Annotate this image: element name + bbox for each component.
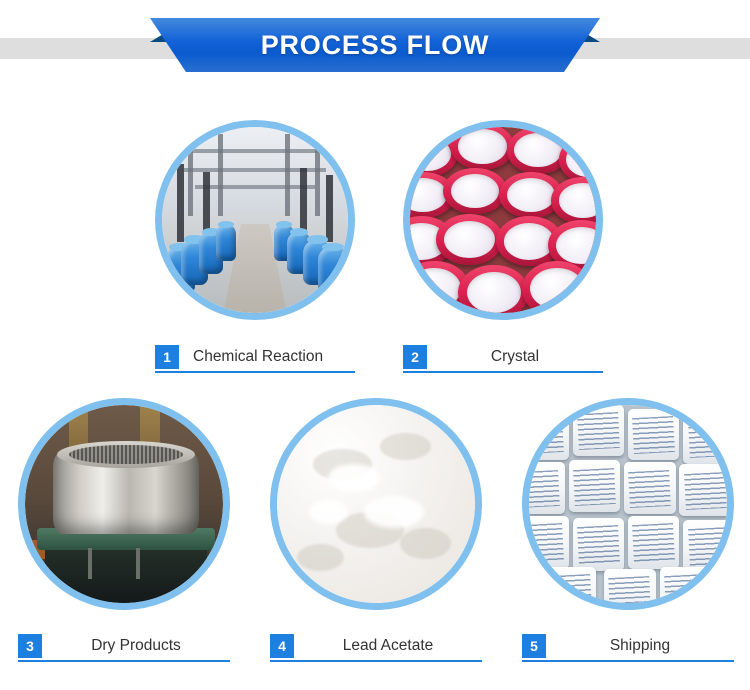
factory-pipe xyxy=(218,134,223,216)
step-4-circle-wrap xyxy=(270,398,482,610)
lead-acetate-photo xyxy=(270,398,482,610)
bag-print xyxy=(609,576,652,603)
crystal-bucket xyxy=(551,177,596,224)
centrifuge-illustration xyxy=(25,405,223,603)
step-2-label-row: 2 Crystal xyxy=(403,345,603,369)
chemical-reaction-photo xyxy=(155,120,355,320)
factory-pipe xyxy=(285,134,290,216)
step-4-number-badge: 4 xyxy=(270,634,294,658)
powder-highlight xyxy=(328,464,379,492)
bag-print xyxy=(664,574,707,603)
crystal-photo xyxy=(403,120,603,320)
crystal-bucket xyxy=(522,261,593,313)
product-bag xyxy=(683,413,727,464)
factory-column xyxy=(326,175,333,242)
step-5-circle-wrap xyxy=(522,398,734,610)
step-2-underline xyxy=(403,371,603,373)
step-card-4[interactable]: 4 Lead Acetate xyxy=(270,398,482,610)
product-bag xyxy=(624,462,675,513)
step-5-underline xyxy=(522,660,734,662)
bag-print xyxy=(684,472,727,510)
crystal-bucket xyxy=(443,168,506,215)
factory-illustration xyxy=(162,127,348,313)
bag-print xyxy=(632,523,675,563)
step-3-label-text: Dry Products xyxy=(42,637,230,655)
step-5-number-badge: 5 xyxy=(522,634,546,658)
product-bag xyxy=(545,567,596,603)
steps-row-2: 3 Dry Products xyxy=(0,388,750,663)
step-2-label: 2 Crystal xyxy=(403,345,603,373)
bag-print xyxy=(628,470,671,508)
powder-grain xyxy=(297,544,345,572)
step-4-label: 4 Lead Acetate xyxy=(270,634,482,662)
machine-leg xyxy=(136,548,140,580)
step-2-circle-wrap xyxy=(403,120,603,320)
bag-print xyxy=(529,470,560,508)
crystal-bucket xyxy=(410,131,458,178)
machine-base xyxy=(45,548,207,603)
powder-grain xyxy=(400,528,451,560)
product-bag xyxy=(573,405,624,456)
crystal-bucket xyxy=(458,265,529,313)
step-2-label-text: Crystal xyxy=(427,348,603,366)
product-bag xyxy=(573,518,624,571)
step-5-label-row: 5 Shipping xyxy=(522,634,734,658)
factory-beam xyxy=(173,149,337,153)
step-card-5[interactable]: 5 Shipping xyxy=(522,398,734,610)
product-bag xyxy=(529,516,569,569)
step-1-label: 1 Chemical Reaction xyxy=(155,345,355,373)
reactor-vessel xyxy=(216,224,236,261)
step-3-label: 3 Dry Products xyxy=(18,634,230,662)
bag-print xyxy=(573,468,616,506)
step-3-circle-wrap xyxy=(18,398,230,610)
process-flow-page: PROCESS FLOW xyxy=(0,0,750,690)
product-bag xyxy=(529,462,565,513)
step-card-3[interactable]: 3 Dry Products xyxy=(18,398,230,610)
powder-highlight xyxy=(364,496,423,528)
shipping-photo xyxy=(522,398,734,610)
factory-beam xyxy=(195,185,314,189)
factory-pipe xyxy=(315,142,320,216)
powder-grain xyxy=(380,433,431,461)
step-2-number-badge: 2 xyxy=(403,345,427,369)
bag-print xyxy=(577,525,620,565)
step-1-label-row: 1 Chemical Reaction xyxy=(155,345,355,369)
bag-print xyxy=(577,412,620,450)
step-5-label-text: Shipping xyxy=(546,637,734,655)
product-bag xyxy=(679,464,727,515)
factory-pipe xyxy=(188,138,193,216)
step-3-underline xyxy=(18,660,230,662)
crystal-buckets-illustration xyxy=(410,127,596,313)
dry-products-photo xyxy=(18,398,230,610)
step-1-label-text: Chemical Reaction xyxy=(179,348,355,366)
steps-row-1: 1 Chemical Reaction xyxy=(0,110,750,375)
product-bag xyxy=(683,520,727,573)
bag-print xyxy=(688,420,727,458)
bag-print xyxy=(529,523,564,563)
crystal-bucket xyxy=(451,127,514,170)
product-bag xyxy=(628,516,679,569)
product-bag xyxy=(569,460,620,511)
product-bag xyxy=(604,569,655,603)
step-5-label: 5 Shipping xyxy=(522,634,734,662)
step-1-number-badge: 1 xyxy=(155,345,179,369)
step-4-underline xyxy=(270,660,482,662)
step-3-label-row: 3 Dry Products xyxy=(18,634,230,658)
step-3-number-badge: 3 xyxy=(18,634,42,658)
step-1-underline xyxy=(155,371,355,373)
product-bag xyxy=(628,409,679,460)
product-bag xyxy=(660,567,711,603)
step-4-label-text: Lead Acetate xyxy=(294,637,482,655)
powder-highlight xyxy=(309,500,349,524)
white-powder-illustration xyxy=(277,405,475,603)
bag-print xyxy=(549,574,592,603)
product-bag xyxy=(529,409,569,460)
page-title: PROCESS FLOW xyxy=(150,18,600,72)
packaged-bags-illustration xyxy=(529,405,727,603)
step-card-1[interactable]: 1 Chemical Reaction xyxy=(155,120,355,320)
step-4-label-row: 4 Lead Acetate xyxy=(270,634,482,658)
reactor-vessel xyxy=(318,246,348,294)
step-card-2[interactable]: 2 Crystal xyxy=(403,120,603,320)
machine-leg xyxy=(88,548,92,580)
crystal-bucket xyxy=(436,214,503,264)
header-banner: PROCESS FLOW xyxy=(0,0,750,92)
bag-print xyxy=(632,416,675,454)
step-1-circle-wrap xyxy=(155,120,355,320)
bag-print xyxy=(688,527,727,567)
factory-column xyxy=(177,164,184,242)
bag-print xyxy=(529,416,564,454)
